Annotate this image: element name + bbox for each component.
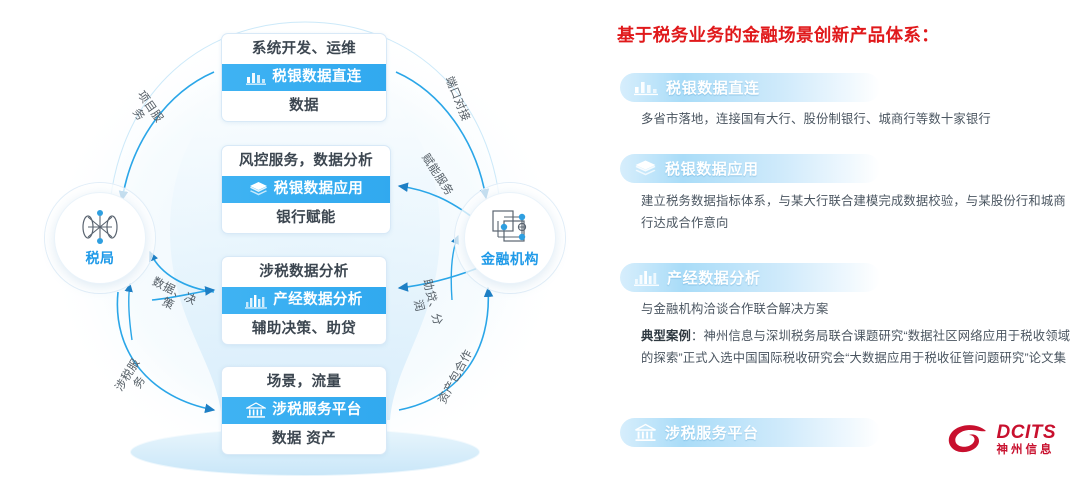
section-header-label: 产经数据分析 xyxy=(667,267,761,288)
layered-squares-icon xyxy=(489,208,531,246)
layers-stack-icon xyxy=(249,181,268,198)
card-mid-label: 产经数据分析 xyxy=(273,287,362,314)
logo-text-en: DCITS xyxy=(997,423,1057,442)
bank-icon xyxy=(634,423,657,442)
network-hub-icon xyxy=(80,209,120,245)
section-header-label: 税银数据直连 xyxy=(666,77,760,98)
card-mid-label: 税银数据直连 xyxy=(272,64,361,91)
section-body-industry-economy-data-analysis: 与金融机构洽谈合作联合解决方案 xyxy=(641,298,1071,320)
section-header-industry-economy-data-analysis[interactable]: 产经数据分析 xyxy=(620,263,880,292)
section-header-label: 涉税服务平台 xyxy=(665,422,759,443)
bar-chart-icon xyxy=(245,293,267,309)
slide-root: 税局 金融机构 项目服 务 端口对接 赋能服务 数据、决 策 助贷、分 润 涉税… xyxy=(0,0,1080,479)
card-bottom-label: 数据 xyxy=(222,91,386,121)
card-mid-row[interactable]: 税银数据应用 xyxy=(222,176,390,203)
bar-chart-icon xyxy=(634,79,658,96)
node-tax-bureau[interactable]: 税局 xyxy=(54,192,146,284)
card-tax-bank-data-application[interactable]: 风控服务，数据分析 税银数据应用 银行赋能 xyxy=(221,145,391,234)
case-study-body: ：神州信息与深圳税务局联合课题研究“数据社区网络应用于税收领域的探索”正式入选中… xyxy=(641,329,1070,365)
dcits-swoosh-icon xyxy=(946,423,990,457)
card-top-label: 场景，流量 xyxy=(222,367,386,397)
bank-icon xyxy=(246,402,266,419)
card-mid-row[interactable]: 产经数据分析 xyxy=(222,287,386,314)
card-bottom-label: 银行赋能 xyxy=(222,203,390,233)
case-study-label: 典型案例 xyxy=(641,329,691,343)
card-mid-label: 涉税服务平台 xyxy=(272,397,361,424)
card-top-label: 涉税数据分析 xyxy=(222,257,386,287)
section-body-tax-bank-data-application: 建立税务数据指标体系，与某大行联合建模完成数据校验，与某股份行和城商行达成合作意… xyxy=(641,190,1071,234)
logo-text-cn: 神州信息 xyxy=(997,445,1057,457)
section-header-label: 税银数据应用 xyxy=(665,158,759,179)
card-mid-label: 税银数据应用 xyxy=(274,176,363,203)
node-financial-institution[interactable]: 金融机构 xyxy=(464,192,556,284)
panel-title: 基于税务业务的金融场景创新产品体系： xyxy=(617,22,939,47)
card-mid-row[interactable]: 涉税服务平台 xyxy=(222,397,386,424)
layers-stack-icon xyxy=(634,159,657,179)
section-header-tax-bank-direct-connect[interactable]: 税银数据直连 xyxy=(620,73,880,102)
card-tax-service-platform[interactable]: 场景，流量 涉税服务平台 数据 资产 xyxy=(221,366,387,455)
product-system-panel: 基于税务业务的金融场景创新产品体系： 税银数据直连 多省市落地，连接国有大行、股… xyxy=(600,0,1080,479)
card-industry-economy-data-analysis[interactable]: 涉税数据分析 产经数据分析 辅助决策、助贷 xyxy=(221,256,387,345)
card-tax-bank-direct-connect[interactable]: 系统开发、运维 税银数据直连 数据 xyxy=(221,33,387,122)
section-header-tax-bank-data-application[interactable]: 税银数据应用 xyxy=(620,154,880,183)
card-bottom-label: 数据 资产 xyxy=(222,424,386,454)
dcits-logo: DCITS 神州信息 xyxy=(946,423,1057,457)
card-top-label: 系统开发、运维 xyxy=(222,34,386,64)
card-bottom-label: 辅助决策、助贷 xyxy=(222,314,386,344)
bar-chart-icon xyxy=(634,269,659,287)
section-body-tax-bank-direct-connect: 多省市落地，连接国有大行、股份制银行、城商行等数十家银行 xyxy=(641,108,1071,130)
section-case-study: 典型案例：神州信息与深圳税务局联合课题研究“数据社区网络应用于税收领域的探索”正… xyxy=(641,325,1071,369)
card-top-label: 风控服务，数据分析 xyxy=(222,146,390,176)
node-financial-institution-label: 金融机构 xyxy=(481,249,539,269)
ecosystem-diagram: 税局 金融机构 项目服 务 端口对接 赋能服务 数据、决 策 助贷、分 润 涉税… xyxy=(0,0,600,479)
bar-chart-icon xyxy=(246,70,266,85)
section-header-tax-service-platform[interactable]: 涉税服务平台 xyxy=(620,418,880,447)
node-tax-bureau-label: 税局 xyxy=(86,248,115,268)
card-mid-row[interactable]: 税银数据直连 xyxy=(222,64,386,91)
